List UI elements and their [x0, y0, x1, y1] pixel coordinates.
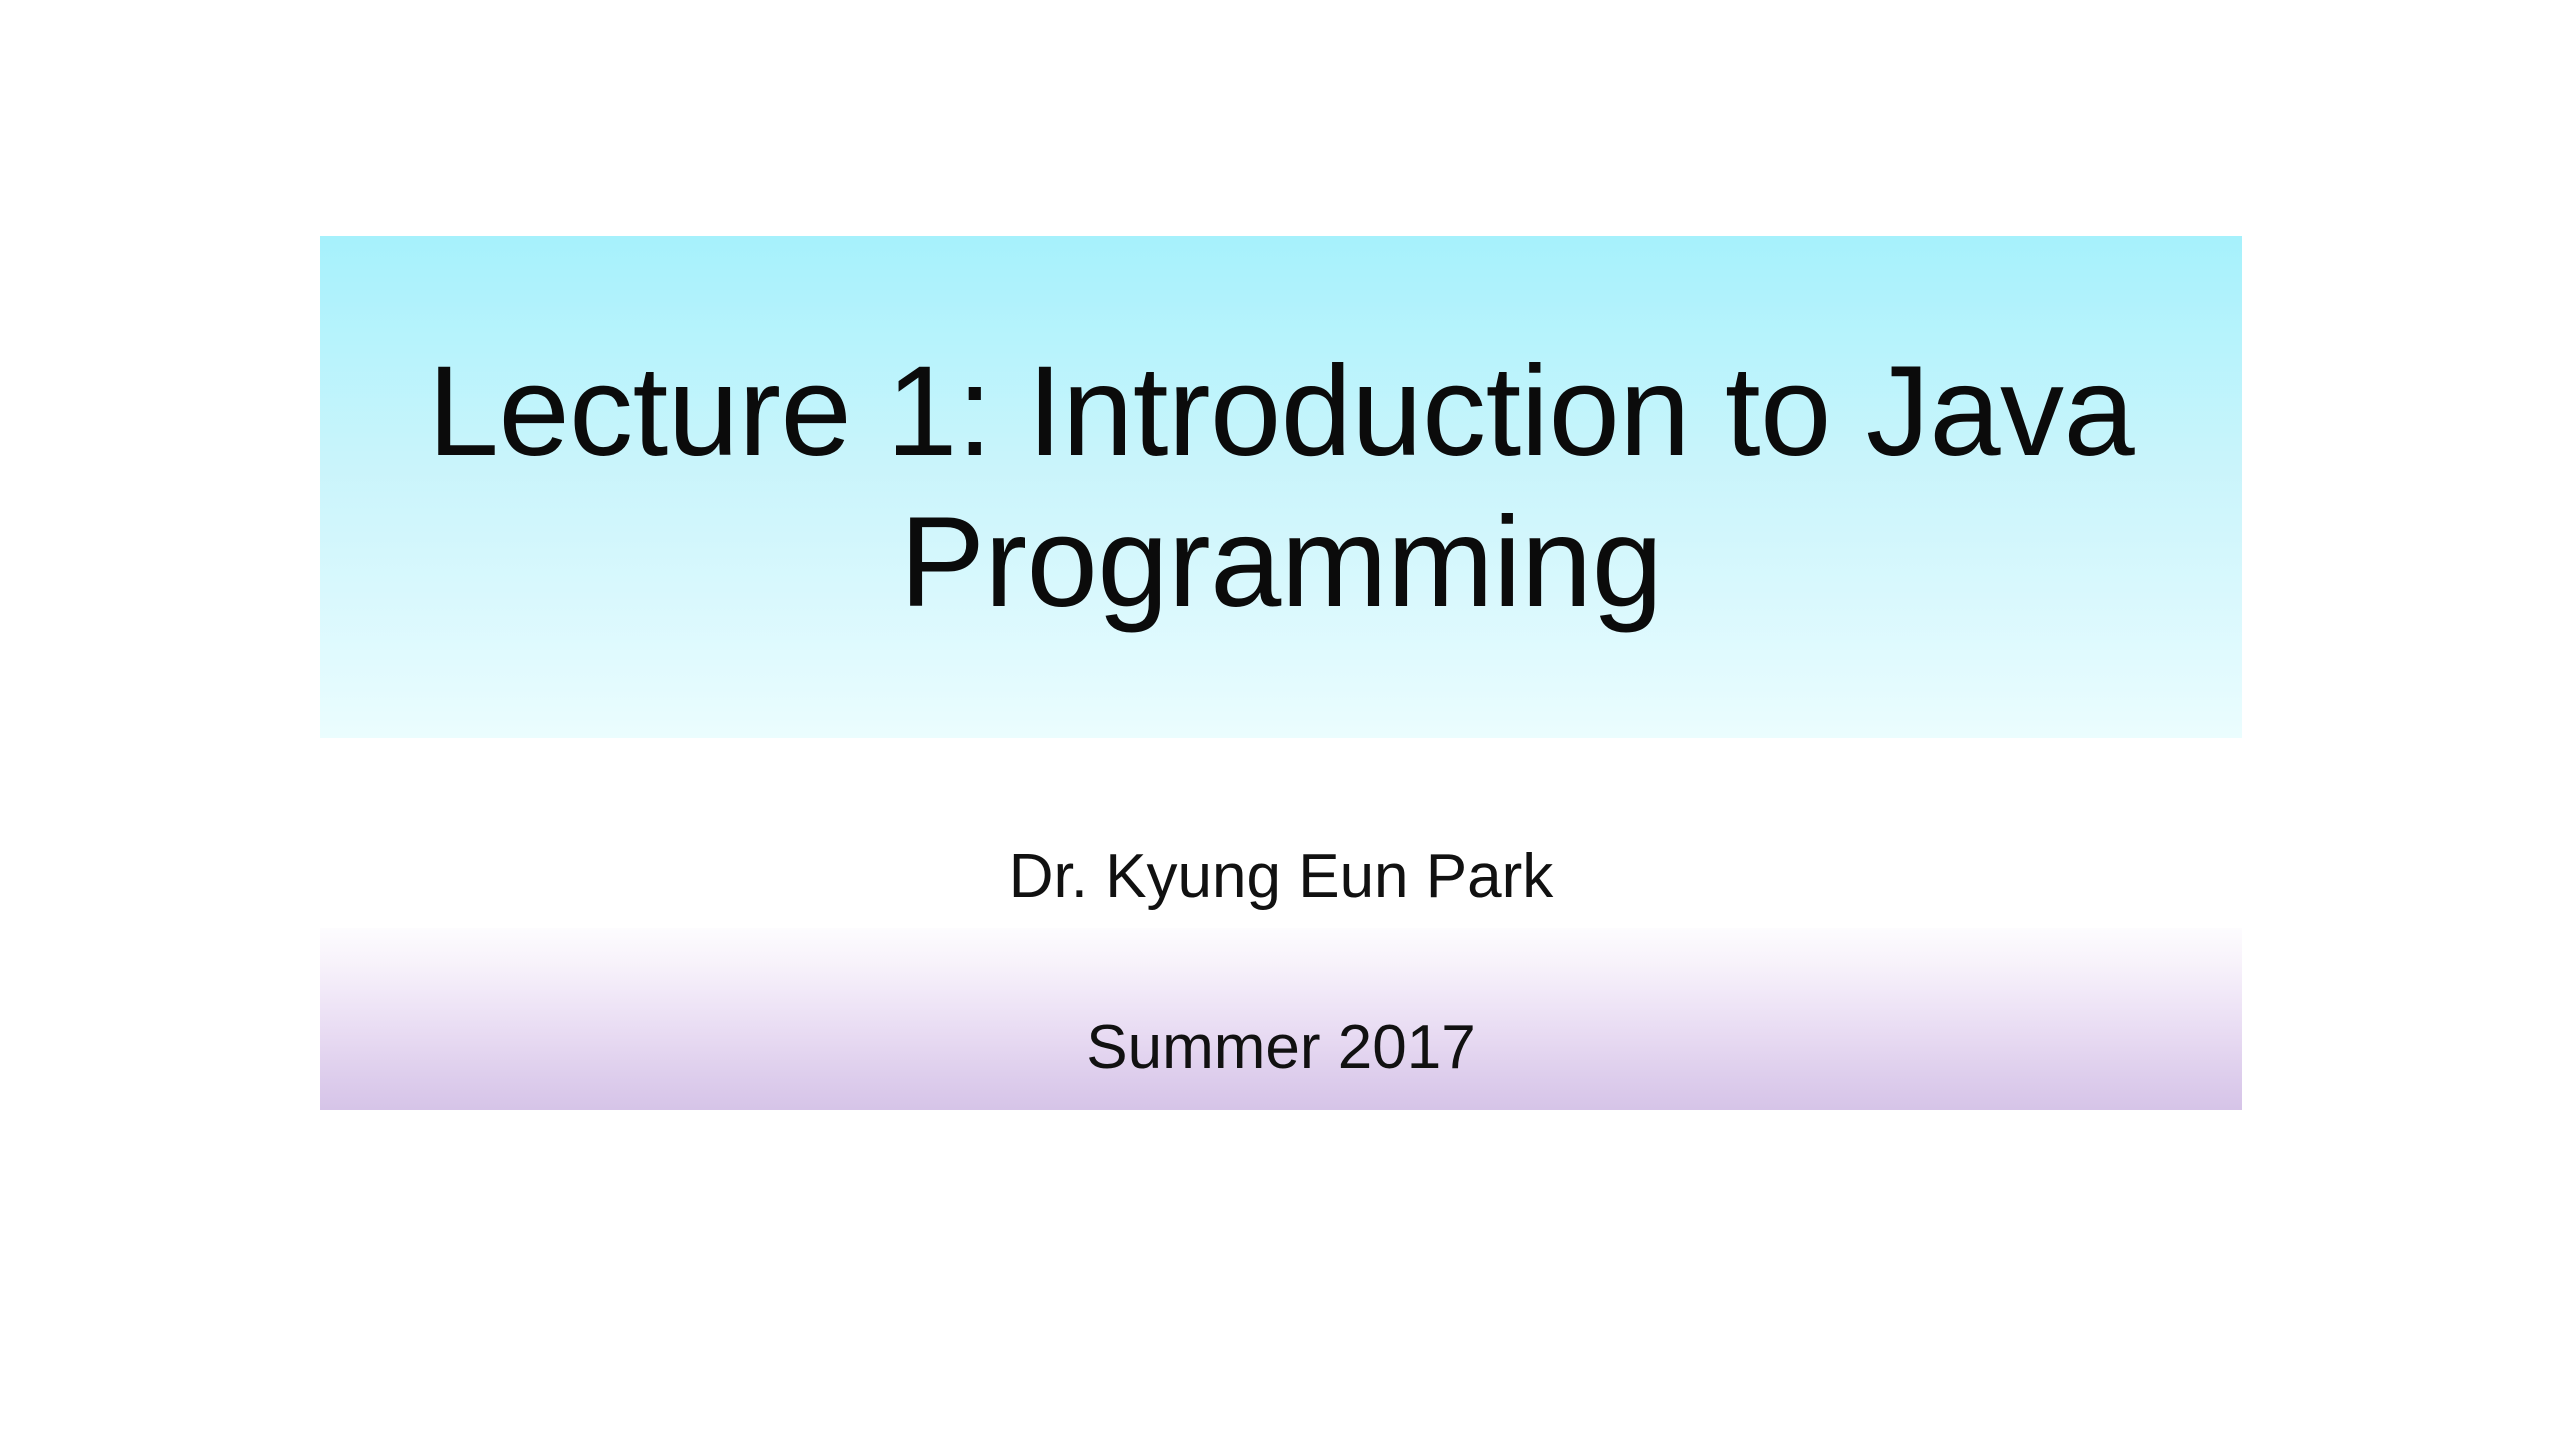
term-block: Summer 2017: [320, 928, 2242, 1110]
page-title: Lecture 1: Introduction to Java Programm…: [350, 336, 2212, 638]
presenter-block: Dr. Kyung Eun Park: [320, 828, 2242, 924]
slide-title-block: Lecture 1: Introduction to Java Programm…: [320, 236, 2242, 738]
presenter-name: Dr. Kyung Eun Park: [1009, 841, 1554, 912]
term-label: Summer 2017: [1086, 1012, 1475, 1083]
presentation-slide: Lecture 1: Introduction to Java Programm…: [0, 0, 2560, 1440]
